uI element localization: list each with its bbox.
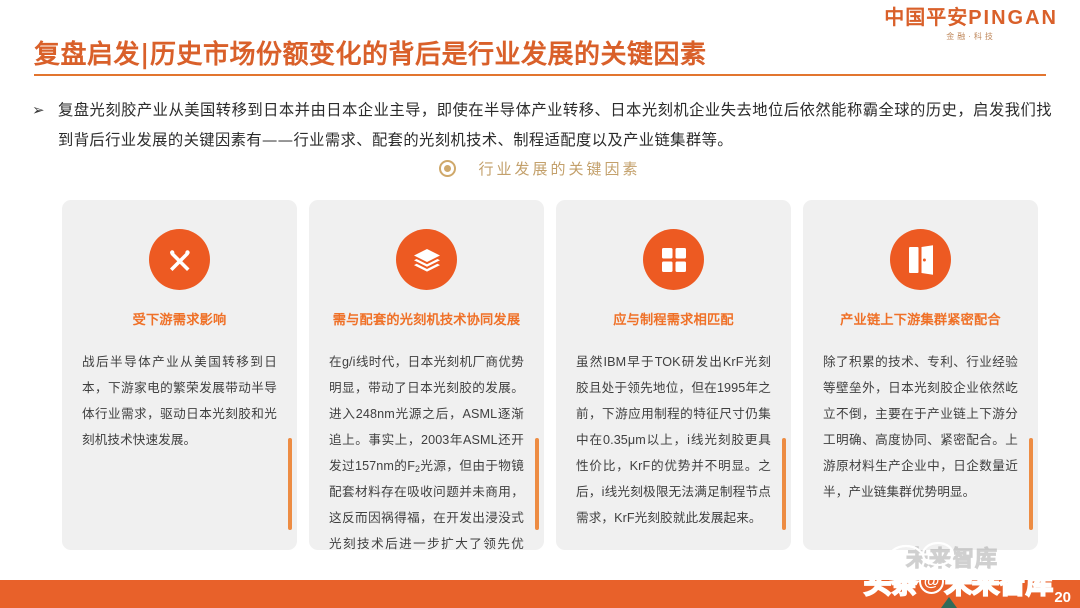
ring-dot-icon [439,160,456,177]
card-accent-bar [288,438,292,530]
card-title: 应与制程需求相匹配 [576,309,771,328]
page-number: 20 [1054,589,1071,606]
title-divider [34,74,1046,76]
card-title: 受下游需求影响 [82,309,277,328]
card-body: 除了积累的技术、专利、行业经验等壁垒外，日本光刻胶企业依然屹立不倒，主要在于产业… [823,349,1018,505]
card-title: 需与配套的光刻机技术协同发展 [329,309,524,328]
factor-cards: 受下游需求影响 战后半导体产业从美国转移到日本，下游家电的繁荣发展带动半导体行业… [62,200,1038,550]
grid-four-squares-icon [643,229,704,290]
section-label: 行业发展的关键因素 [478,158,640,179]
card-accent-bar [1029,438,1033,530]
card-body: 虽然IBM早于TOK研发出KrF光刻胶且处于领先地位，但在1995年之前，下游应… [576,349,771,531]
card-body-part: 在g/i线时代，日本光刻机厂商优势明显，带动了日本光刻胶的发展。进入248nm光… [329,355,524,473]
open-door-icon [890,229,951,290]
brand-logo-text: 中国平安PINGAN [884,8,1058,28]
brand-logo-en: PINGAN [968,7,1058,29]
chat-bubbles-icon [884,540,970,580]
layers-icon [396,229,457,290]
card-accent-bar [782,438,786,530]
factor-card[interactable]: 应与制程需求相匹配 虽然IBM早于TOK研发出KrF光刻胶且处于领先地位，但在1… [556,200,791,550]
page-title-wrap: 复盘启发|历史市场份额变化的背后是行业发展的关键因素 [34,34,1046,71]
crossed-tools-icon [149,229,210,290]
factor-card[interactable]: 产业链上下游集群紧密配合 除了积累的技术、专利、行业经验等壁垒外，日本光刻胶企业… [803,200,1038,550]
bullet-arrow-icon: ➢ [32,96,58,156]
section-label-row: 行业发展的关键因素 [0,158,1080,179]
card-body: 在g/i线时代，日本光刻机厂商优势明显，带动了日本光刻胶的发展。进入248nm光… [329,349,524,550]
card-title: 产业链上下游集群紧密配合 [823,309,1018,328]
card-body: 战后半导体产业从美国转移到日本，下游家电的繁荣发展带动半导体行业需求，驱动日本光… [82,349,277,453]
intro-text: 复盘光刻胶产业从美国转移到日本并由日本企业主导，即使在半导体产业转移、日本光刻机… [58,96,1052,156]
intro-bullet: ➢ 复盘光刻胶产业从美国转移到日本并由日本企业主导，即使在半导体产业转移、日本光… [32,96,1052,156]
page-title: 复盘启发|历史市场份额变化的背后是行业发展的关键因素 [34,34,1046,71]
formula-subscript: 2 [415,464,420,474]
card-accent-bar [535,438,539,530]
brand-logo-cn: 中国平安 [884,7,968,29]
factor-card[interactable]: 需与配套的光刻机技术协同发展 在g/i线时代，日本光刻机厂商优势明显，带动了日本… [309,200,544,550]
factor-card[interactable]: 受下游需求影响 战后半导体产业从美国转移到日本，下游家电的繁荣发展带动半导体行业… [62,200,297,550]
